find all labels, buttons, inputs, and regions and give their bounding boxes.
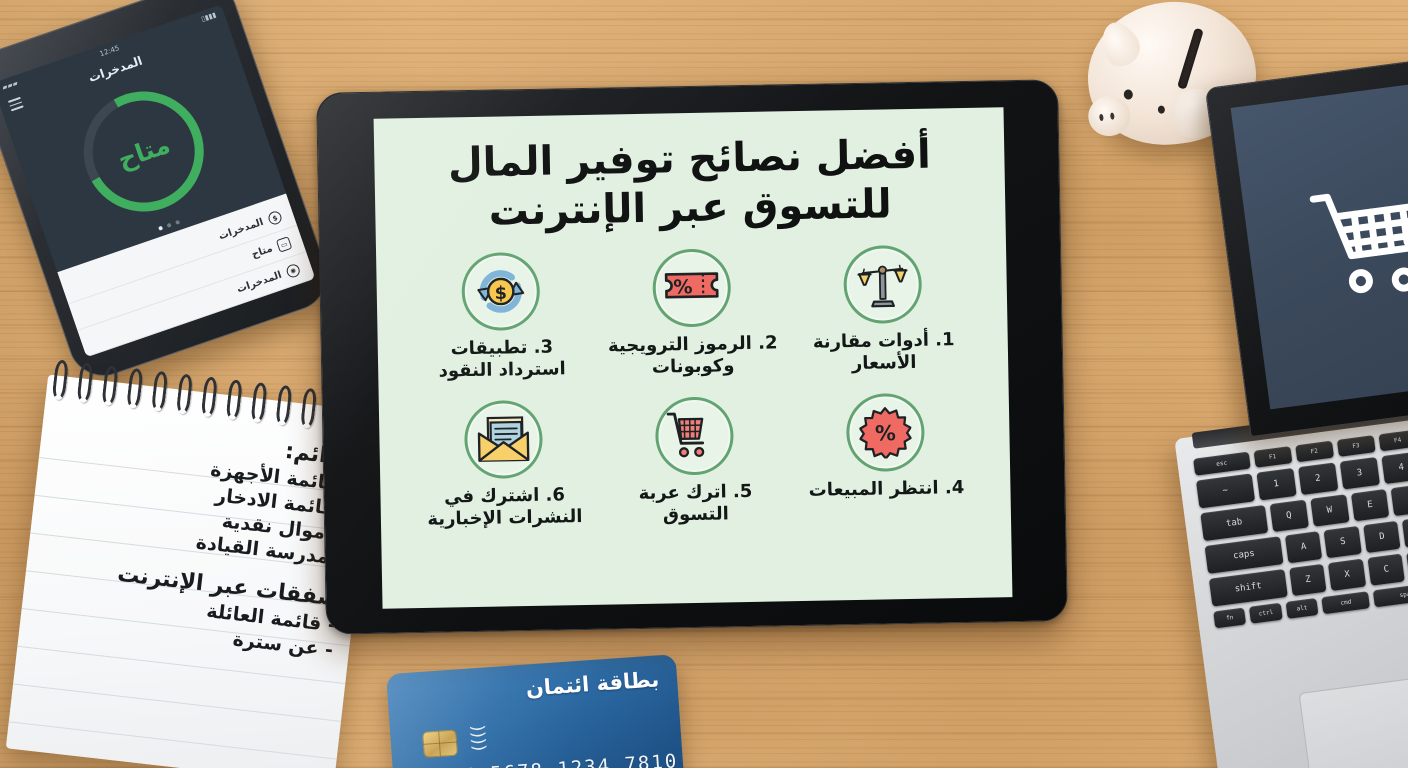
svg-text:%: % <box>673 275 693 298</box>
svg-text:%: % <box>875 421 896 445</box>
key-f1[interactable]: F1 <box>1253 446 1292 468</box>
tip-icon-badge: $ <box>461 251 540 330</box>
tablet-screen[interactable]: أفضل نصائح توفير المال للتسوق عبر الإنتر… <box>374 107 1013 608</box>
key-3[interactable]: 3 <box>1339 457 1379 490</box>
tip-icon-badge: % <box>652 248 731 327</box>
tablet[interactable]: أفضل نصائح توفير المال للتسوق عبر الإنتر… <box>316 79 1068 635</box>
key-a[interactable]: A <box>1285 531 1323 563</box>
tips-row-top: 1. أدوات مقارنة الأسعار % 2. الرموز التر… <box>400 243 984 384</box>
laptop-screen[interactable] <box>1231 74 1408 409</box>
key-tab[interactable]: tab <box>1200 505 1268 541</box>
gear-icon: ✺ <box>285 263 302 280</box>
shopping-cart-icon <box>666 410 723 461</box>
key-capslock[interactable]: caps <box>1205 536 1284 574</box>
tip-label: 6. اشترك في النشرات الإخبارية <box>418 483 591 531</box>
tips-grid: 1. أدوات مقارنة الأسعار % 2. الرموز التر… <box>400 243 987 532</box>
key-f4[interactable]: F4 <box>1378 430 1408 452</box>
tip-icon-badge <box>464 399 543 478</box>
key-shift[interactable]: shift <box>1209 569 1288 607</box>
progress-arc <box>70 78 217 225</box>
key-q[interactable]: Q <box>1269 500 1308 532</box>
key-d[interactable]: D <box>1363 521 1401 553</box>
open-envelope-icon <box>475 414 532 465</box>
page-title: أفضل نصائح توفير المال للتسوق عبر الإنتر… <box>398 130 982 238</box>
tip-label: 5. اترك عربة التسوق <box>609 480 782 528</box>
shopping-cart-icon <box>1305 175 1408 309</box>
tip-item-1[interactable]: 1. أدوات مقارنة الأسعار <box>796 244 970 377</box>
tip-label: 2. الرموز الترويجية وكوبونات <box>607 332 780 380</box>
tip-icon-badge <box>843 244 922 323</box>
key-e[interactable]: E <box>1350 489 1389 521</box>
notepad[interactable]: قوائم: - قائمة الأجهزة - قائمة الادخار -… <box>6 375 376 768</box>
key-fn[interactable]: fn <box>1213 607 1246 628</box>
list-item-label: متاح <box>250 243 274 260</box>
key-2[interactable]: 2 <box>1298 462 1338 495</box>
key-cmd-left[interactable]: cmd <box>1322 591 1371 614</box>
key-x[interactable]: X <box>1328 559 1366 591</box>
hamburger-menu-icon[interactable] <box>8 97 25 114</box>
key-tilde[interactable]: ~ <box>1196 473 1255 508</box>
key-r[interactable]: R <box>1391 484 1408 516</box>
tip-icon-badge <box>655 396 734 475</box>
phone-battery-icon: ▰▰▰ <box>1 79 19 92</box>
tip-item-6[interactable]: 6. اشترك في النشرات الإخبارية <box>417 398 591 531</box>
credit-card[interactable]: بطاقة ائتمان )))) 1234 5678 1234 7810 VA… <box>386 654 688 768</box>
key-1[interactable]: 1 <box>1256 468 1296 501</box>
key-f[interactable]: F <box>1402 516 1408 548</box>
key-space[interactable]: space <box>1373 582 1408 608</box>
list-item-label: المدخرات <box>236 270 284 296</box>
discount-starburst-icon: % <box>859 406 912 459</box>
key-ctrl[interactable]: ctrl <box>1249 603 1282 624</box>
key-s[interactable]: S <box>1324 526 1362 558</box>
tip-item-4[interactable]: % 4. انتظر المبيعات <box>799 391 973 524</box>
emv-chip-icon <box>422 730 458 758</box>
key-w[interactable]: W <box>1310 494 1349 526</box>
tip-label: 1. أدوات مقارنة الأسعار <box>798 329 971 377</box>
wallet-icon: ▭ <box>276 236 293 253</box>
key-f3[interactable]: F3 <box>1337 435 1376 457</box>
key-c[interactable]: C <box>1367 553 1405 585</box>
tip-item-3[interactable]: $ 3. تطبيقات استرداد النقود <box>414 251 588 384</box>
contactless-icon: )))) <box>467 724 489 752</box>
tip-label: 4. انتظر المبيعات <box>808 477 964 502</box>
cashback-refresh-icon: $ <box>472 263 529 320</box>
key-alt[interactable]: alt <box>1285 598 1318 619</box>
laptop-lid <box>1205 49 1408 437</box>
poster-content: أفضل نصائح توفير المال للتسوق عبر الإنتر… <box>374 107 1013 608</box>
key-z[interactable]: Z <box>1289 564 1327 596</box>
svg-text:$: $ <box>494 283 507 303</box>
savings-progress-ring: متاح <box>67 75 220 228</box>
key-f2[interactable]: F2 <box>1295 441 1334 463</box>
notepad-content: قوائم: - قائمة الأجهزة - قائمة الادخار -… <box>35 412 356 663</box>
balance-scale-icon <box>855 257 910 312</box>
tips-row-bottom: % 4. انتظر المبيعات <box>403 391 987 532</box>
phone-signal-icon: ▮▮▮▯ <box>200 11 217 24</box>
tip-item-2[interactable]: % 2. الرموز الترويجية وكوبونات <box>605 247 779 380</box>
coin-dollar-icon: $ <box>267 210 284 227</box>
tip-label: 3. تطبيقات استرداد النقود <box>416 336 589 384</box>
coupon-ticket-icon: % <box>663 266 720 309</box>
tip-icon-badge: % <box>846 392 925 471</box>
key-4[interactable]: 4 <box>1381 452 1408 485</box>
tip-item-5[interactable]: 5. اترك عربة التسوق <box>608 395 782 528</box>
